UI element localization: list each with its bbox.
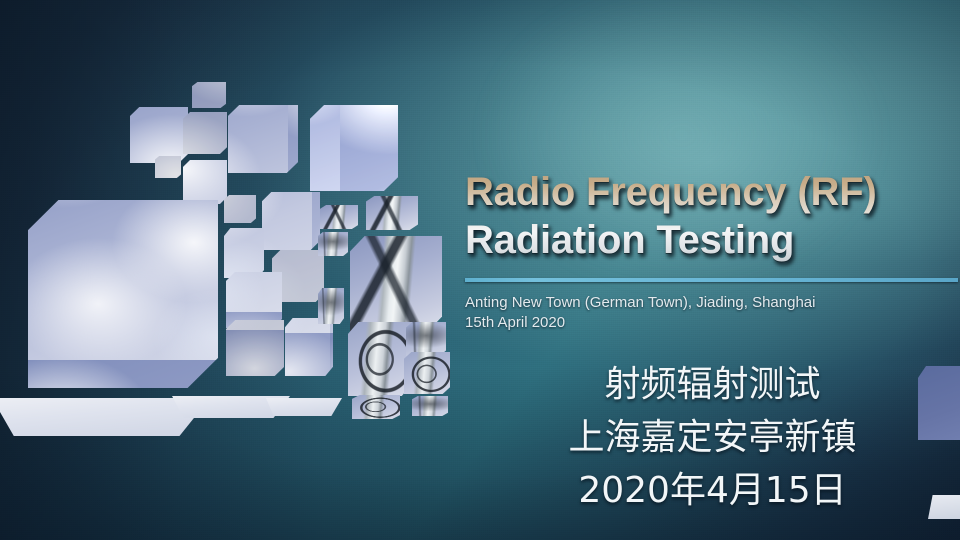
mosaic-sliver	[266, 398, 342, 416]
mosaic-tile	[262, 192, 320, 250]
mosaic-tile	[226, 320, 284, 376]
title-text-block: Radio Frequency (RF) Radiation Testing A…	[465, 168, 960, 333]
mosaic-tile	[226, 272, 282, 328]
mosaic-tile	[183, 112, 227, 154]
mosaic-tile	[192, 82, 226, 108]
chinese-title: 射频辐射测试	[465, 358, 960, 411]
mosaic-tile-large	[28, 200, 218, 388]
mosaic-tile-tower-antenna	[320, 205, 358, 229]
subtitle: Anting New Town (German Town), Jiading, …	[465, 293, 960, 333]
chinese-location: 上海嘉定安亭新镇	[465, 411, 960, 464]
mosaic-tile	[224, 228, 264, 278]
mosaic-tile-tower-head	[318, 232, 348, 256]
presentation-slide: Radio Frequency (RF) Radiation Testing A…	[0, 0, 960, 540]
mosaic-tile-tower-mast	[350, 236, 442, 332]
chinese-text-block: 射频辐射测试 上海嘉定安亭新镇 2020年4月15日	[465, 358, 960, 517]
mosaic-tile-tower-cables	[404, 352, 450, 394]
chinese-date: 2020年4月15日	[465, 464, 960, 517]
mosaic-tile	[155, 156, 181, 178]
mosaic-tile-tower-arm	[406, 322, 446, 356]
mosaic-tile-tower-base	[318, 288, 344, 324]
mosaic-tile-tower-fragment	[412, 396, 448, 416]
mosaic-tile	[130, 107, 188, 163]
mosaic-tile-tower-pole-bottom	[352, 395, 400, 419]
mosaic-tile	[224, 195, 256, 223]
mosaic-tile	[285, 318, 333, 376]
mosaic-tile-tower-cables	[348, 322, 412, 396]
mosaic-cell-tower-photo	[0, 0, 470, 540]
page-title: Radio Frequency (RF) Radiation Testing	[465, 168, 960, 264]
mosaic-tile-tower-antenna	[366, 196, 418, 230]
mosaic-tile	[310, 105, 398, 191]
mosaic-tile	[183, 160, 227, 204]
mosaic-tile	[228, 105, 298, 173]
title-accent-rule	[465, 278, 958, 282]
